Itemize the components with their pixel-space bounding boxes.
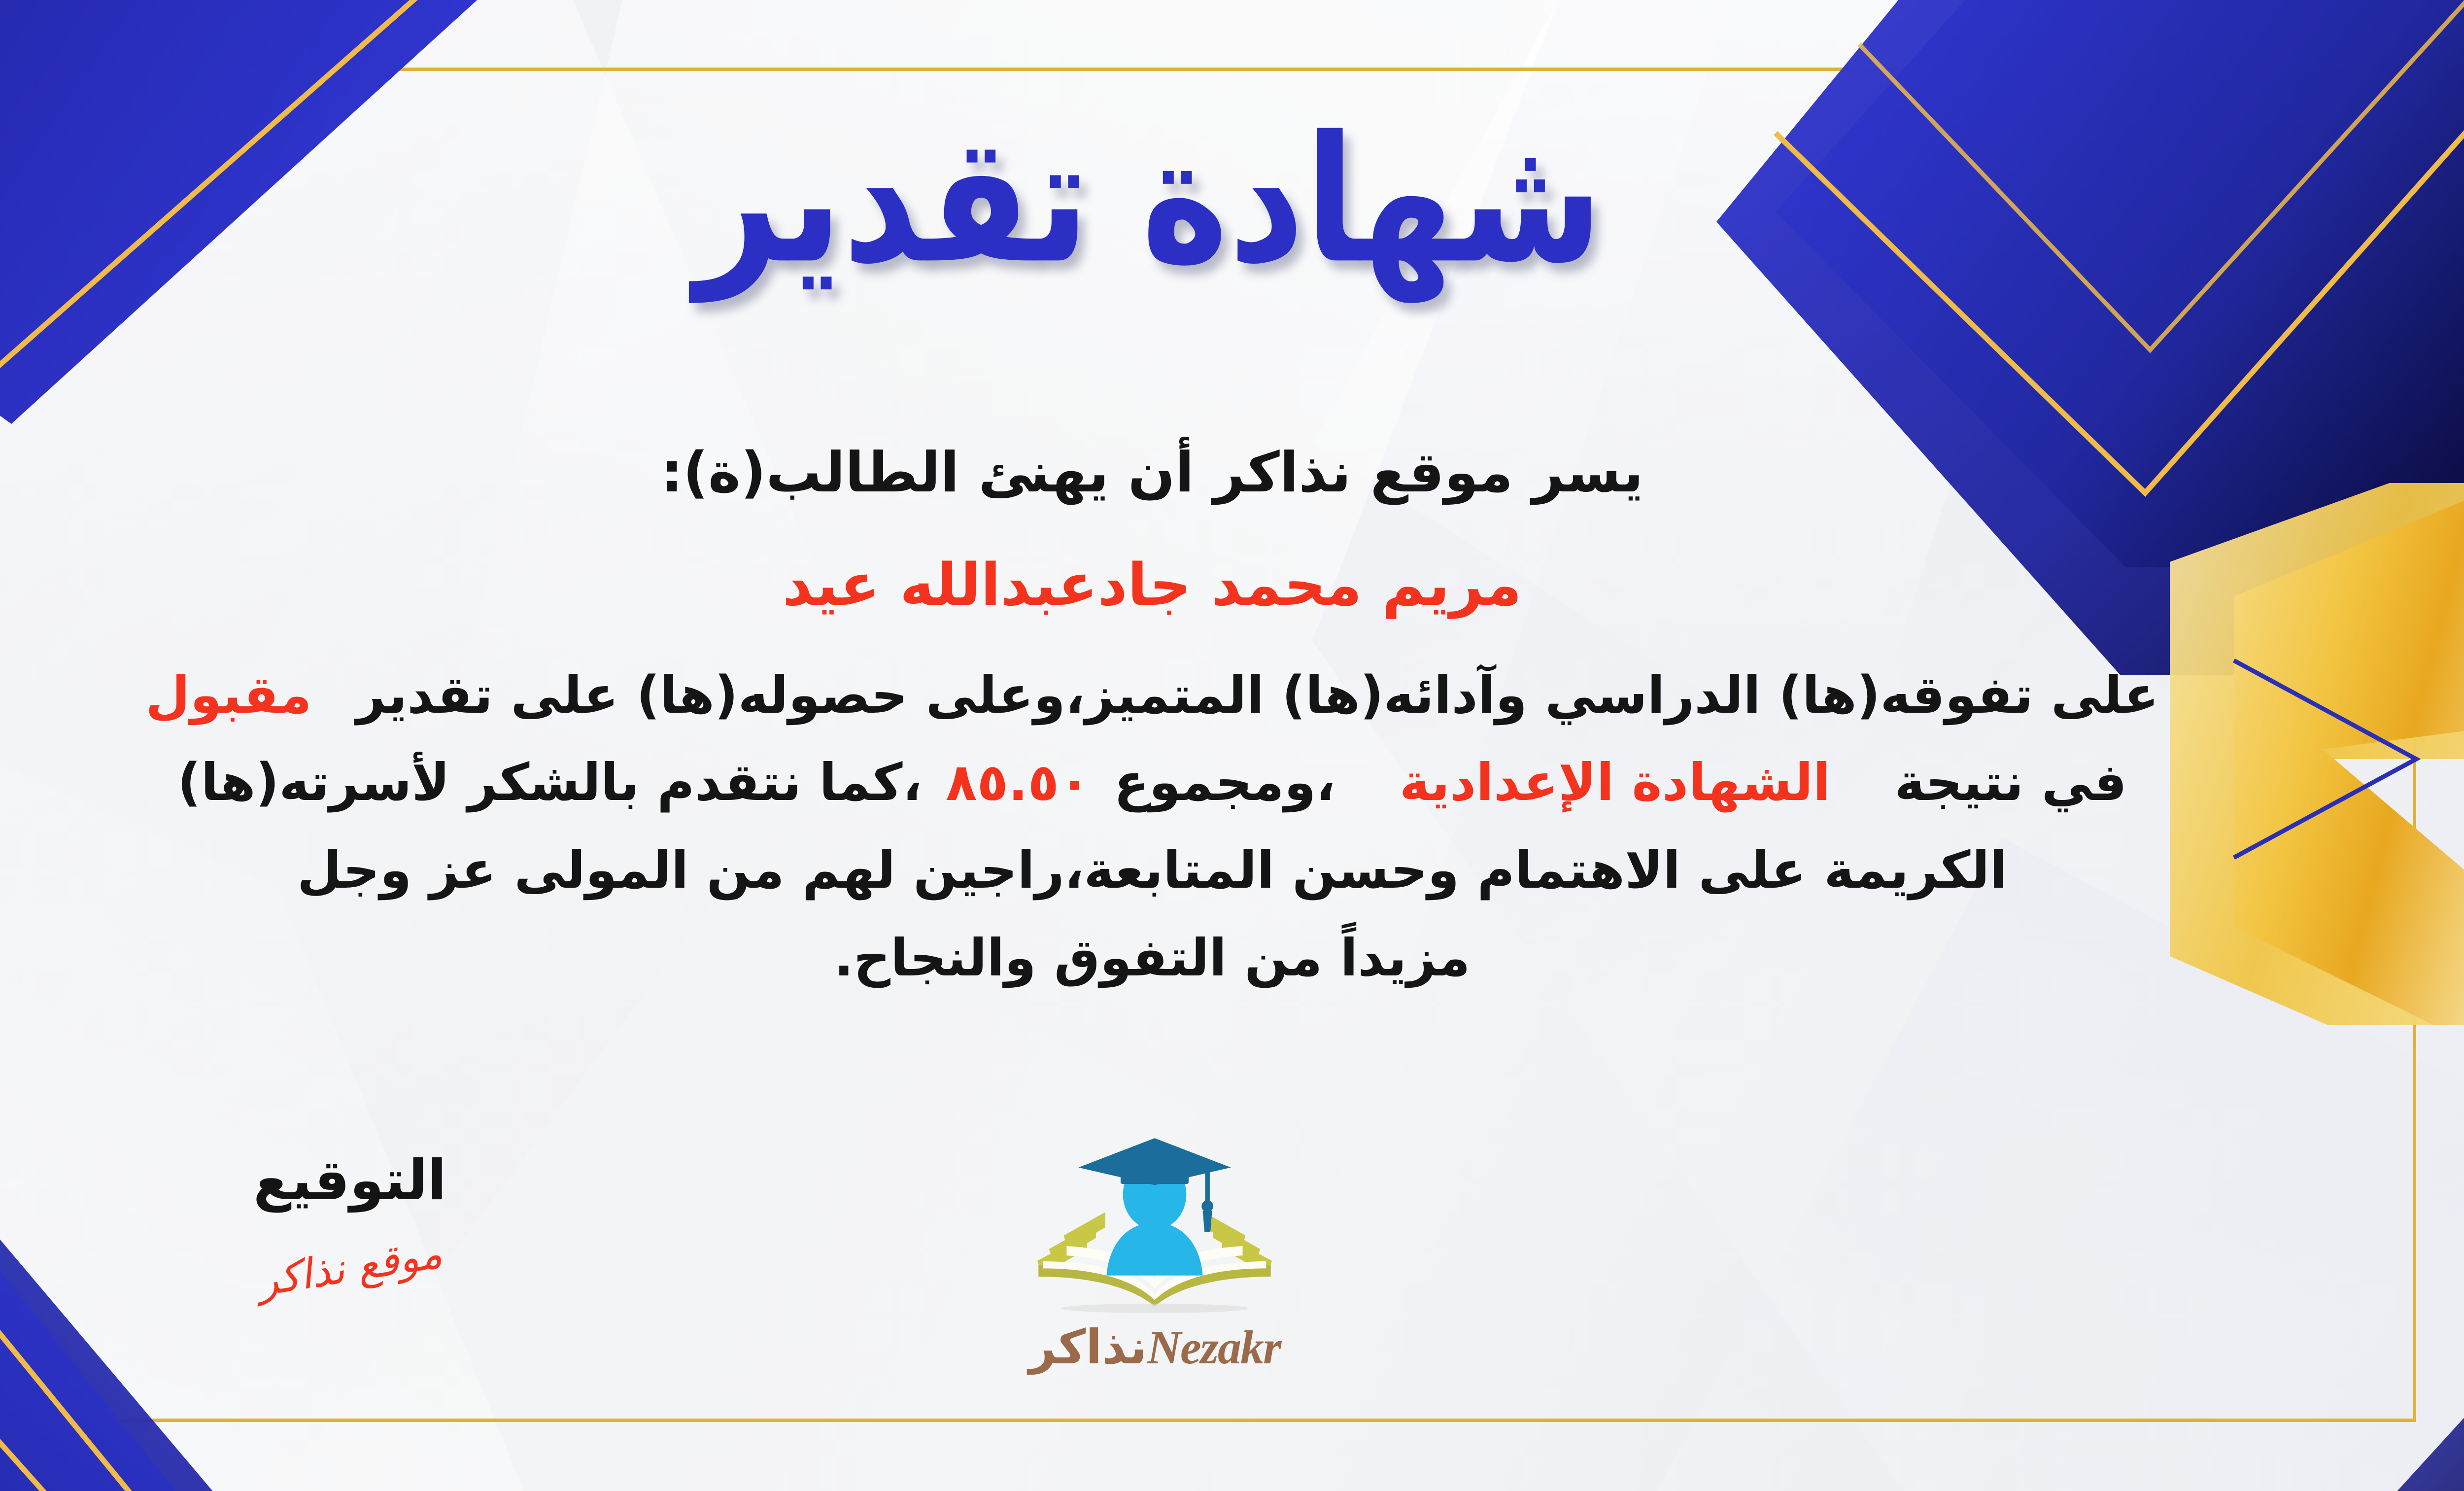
achievement-text: على تفوقه(ها) الدراسي وآدائه(ها) المتميز… — [356, 665, 2159, 725]
certificate-type: الشهادة الإعدادية — [1400, 752, 1831, 812]
closing-line: مزيداً من التفوق والنجاح. — [6, 922, 2298, 995]
brand-name-latin: Nezakr — [1147, 1321, 1281, 1374]
total-score: ٨٥.٥٠ — [946, 752, 1090, 812]
gratitude-line: الكريمة على الاهتمام وحسن المتابعة،راجين… — [6, 834, 2298, 907]
brand-name-arabic: نذاكر — [1029, 1319, 1147, 1375]
certificate-body: يسر موقع نذاكر أن يهنئ الطالب(ة): مريم م… — [6, 434, 2298, 1009]
grade-value: مقبول — [145, 665, 311, 725]
brand-logo-text: Nezakrنذاكر — [977, 1319, 1332, 1375]
total-label: ،ومجموع — [1114, 752, 1335, 812]
certificate-page: شهادة تقدير يسر موقع نذاكر أن يهنئ الطال… — [0, 0, 2464, 1491]
result-line: في نتيجةالشهادة الإعدادية،ومجموع٨٥.٥٠،كم… — [6, 746, 2298, 819]
brand-logo: Nezakrنذاكر — [977, 1129, 1332, 1375]
thanks-text: ،كما نتقدم بالشكر لأسرته(ها) — [177, 752, 922, 812]
signature-label: التوقيع — [197, 1148, 503, 1213]
student-name: مريم محمد جادعبدالله عيد — [6, 544, 2298, 626]
signature-block: التوقيع موقع نذاكر — [197, 1148, 503, 1291]
graduate-book-icon — [1031, 1129, 1278, 1322]
result-prefix: في نتيجة — [1894, 752, 2127, 812]
intro-line: يسر موقع نذاكر أن يهنئ الطالب(ة): — [6, 434, 2298, 512]
achievement-line: على تفوقه(ها) الدراسي وآدائه(ها) المتميز… — [6, 659, 2298, 732]
corner-ornament-bottom-right — [2190, 1272, 2464, 1491]
